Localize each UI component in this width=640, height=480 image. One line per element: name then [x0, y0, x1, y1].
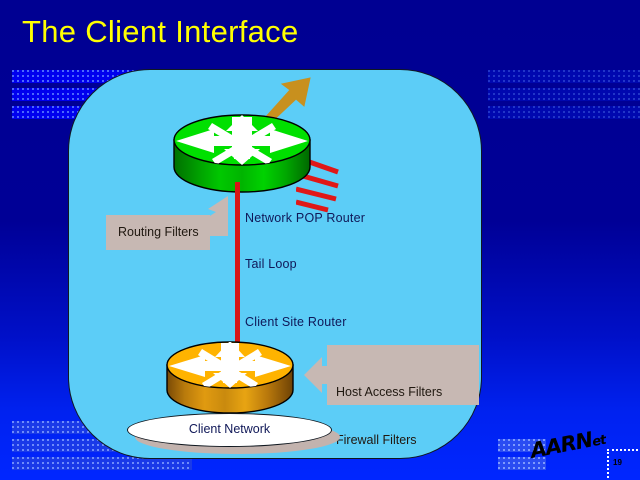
host-access-filters-label: Host Access Filters	[336, 384, 479, 400]
client-site-router-icon[interactable]	[165, 340, 295, 416]
routing-filters-callout: Routing Filters	[106, 215, 210, 250]
slide-title: The Client Interface	[22, 14, 299, 50]
slide-canvas: The Client Interface	[0, 0, 640, 480]
decorative-bar-right-1	[488, 70, 640, 83]
decorative-bar-right-2	[488, 88, 640, 101]
client-filters-callout: Host Access Filters Firewall Filters Ser…	[327, 345, 479, 405]
page-number: 19	[613, 458, 622, 467]
network-pop-router-icon[interactable]	[172, 113, 312, 195]
aarnet-logo: AARNet	[528, 425, 606, 463]
client-network-label: Client Network	[127, 422, 332, 436]
decorative-bar-right-3	[488, 106, 640, 119]
aarnet-logo-suffix: et	[591, 433, 607, 450]
page-number-box	[607, 449, 638, 478]
aarnet-logo-main: AARN	[528, 428, 594, 463]
tail-loop-label: Tail Loop	[245, 257, 297, 271]
client-site-router-label: Client Site Router	[245, 315, 347, 329]
firewall-filters-label: Firewall Filters	[336, 432, 479, 448]
tail-loop-link	[235, 182, 240, 348]
network-pop-router-label: Network POP Router	[245, 211, 365, 225]
